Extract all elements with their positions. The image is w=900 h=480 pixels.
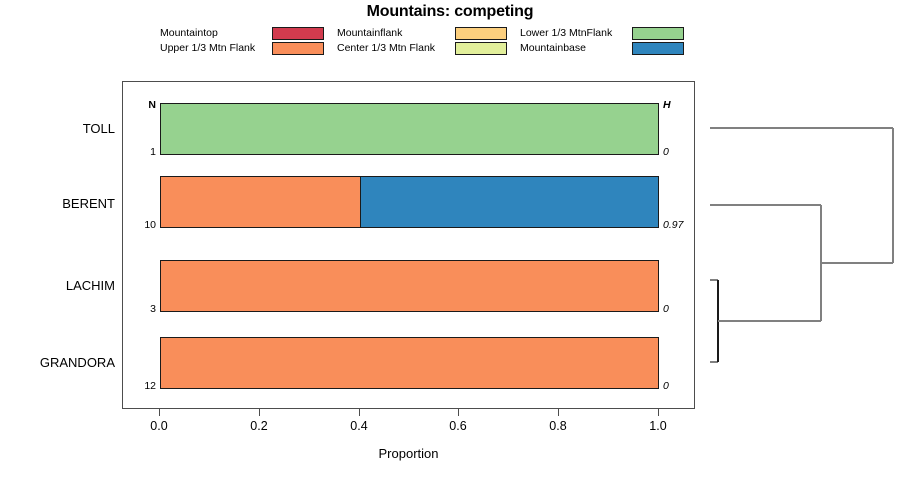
x-tick-mark xyxy=(458,409,459,416)
legend-label: Mountainflank xyxy=(337,26,402,41)
legend-column-3: Lower 1/3 MtnFlank Mountainbase xyxy=(520,26,695,56)
x-tick-mark xyxy=(359,409,360,416)
stacked-bar-berent[interactable] xyxy=(160,176,659,228)
dendrogram-svg xyxy=(700,81,900,409)
legend-column-1: Mountaintop Upper 1/3 Mtn Flank xyxy=(160,26,335,56)
chart-canvas: Mountains: competing Mountaintop Upper 1… xyxy=(0,0,900,480)
n-value: 1 xyxy=(126,146,156,158)
y-axis-label-toll: TOLL xyxy=(0,121,115,137)
legend-label: Upper 1/3 Mtn Flank xyxy=(160,41,255,56)
stacked-bar-grandora[interactable] xyxy=(160,337,659,389)
x-tick-label-3: 0.6 xyxy=(428,419,488,433)
legend-swatch-upper-third-mtn-flank xyxy=(272,42,324,55)
legend-swatch-center-third-mtn-flank xyxy=(455,42,507,55)
h-value-cell: 0 xyxy=(663,103,696,155)
y-axis-label-berent: BERENT xyxy=(0,196,115,212)
h-value-cell: 0 xyxy=(663,260,696,312)
legend-entry: Center 1/3 Mtn Flank xyxy=(337,41,517,56)
n-value: 12 xyxy=(126,380,156,392)
bar-segment-mountainbase[interactable] xyxy=(360,177,658,227)
n-value: 3 xyxy=(126,303,156,315)
stacked-bar-lachim[interactable] xyxy=(160,260,659,312)
n-value-cell: 10 xyxy=(123,176,156,228)
stacked-bar-toll[interactable] xyxy=(160,103,659,155)
chart-title: Mountains: competing xyxy=(0,3,900,21)
legend-entry: Mountaintop xyxy=(160,26,335,41)
h-value: 0 xyxy=(663,146,669,158)
plot-panel: N H 1 0 10 0.97 xyxy=(122,81,695,409)
legend-swatch-mountainbase xyxy=(632,42,684,55)
legend-swatch-lower-third-mtn-flank xyxy=(632,27,684,40)
legend-entry: Lower 1/3 MtnFlank xyxy=(520,26,695,41)
legend-entry: Upper 1/3 Mtn Flank xyxy=(160,41,335,56)
h-value: 0 xyxy=(663,380,669,392)
y-axis-label-grandora: GRANDORA xyxy=(0,355,115,371)
legend-swatch-mountaintop xyxy=(272,27,324,40)
y-axis-label-lachim: LACHIM xyxy=(0,278,115,294)
x-tick-mark xyxy=(658,409,659,416)
x-tick-label-0: 0.0 xyxy=(129,419,189,433)
x-tick-label-1: 0.2 xyxy=(229,419,289,433)
n-value-cell: 1 xyxy=(123,103,156,155)
h-value-cell: 0.97 xyxy=(663,176,696,228)
legend-label: Mountainbase xyxy=(520,41,586,56)
legend: Mountaintop Upper 1/3 Mtn Flank Mountain… xyxy=(160,26,780,56)
x-tick-label-5: 1.0 xyxy=(628,419,688,433)
h-value-cell: 0 xyxy=(663,337,696,389)
legend-swatch-mountainflank xyxy=(455,27,507,40)
bar-segment-upper-third-mtn-flank[interactable] xyxy=(161,338,658,388)
legend-label: Center 1/3 Mtn Flank xyxy=(337,41,435,56)
dendrogram xyxy=(700,81,900,409)
n-value: 10 xyxy=(126,219,156,231)
x-tick-mark xyxy=(159,409,160,416)
bar-segment-upper-third-mtn-flank[interactable] xyxy=(161,261,658,311)
n-value-cell: 3 xyxy=(123,260,156,312)
legend-label: Mountaintop xyxy=(160,26,218,41)
legend-entry: Mountainflank xyxy=(337,26,517,41)
legend-column-2: Mountainflank Center 1/3 Mtn Flank xyxy=(337,26,517,56)
x-tick-mark xyxy=(558,409,559,416)
x-tick-mark xyxy=(259,409,260,416)
x-tick-label-2: 0.4 xyxy=(329,419,389,433)
legend-entry: Mountainbase xyxy=(520,41,695,56)
legend-label: Lower 1/3 MtnFlank xyxy=(520,26,612,41)
h-value: 0.97 xyxy=(663,219,683,231)
h-value: 0 xyxy=(663,303,669,315)
bar-segment-upper-third-mtn-flank[interactable] xyxy=(161,177,360,227)
x-tick-label-4: 0.8 xyxy=(528,419,588,433)
x-axis-title: Proportion xyxy=(122,446,695,461)
bar-segment-lower-third-mtn-flank[interactable] xyxy=(161,104,658,154)
n-value-cell: 12 xyxy=(123,337,156,389)
